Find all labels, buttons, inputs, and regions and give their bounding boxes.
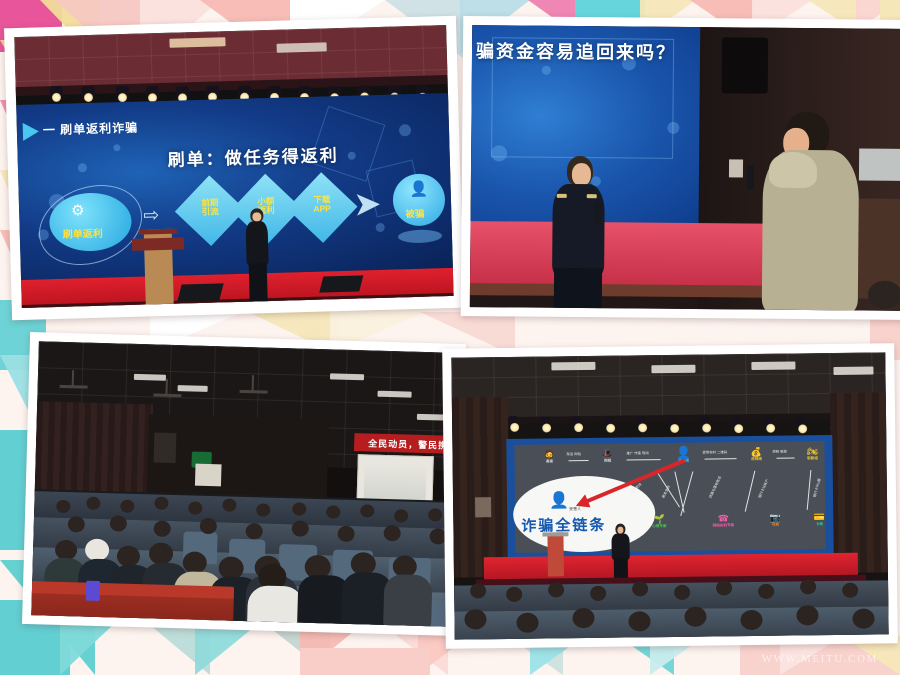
victim-label: 被骗 xyxy=(405,206,424,221)
person-icon: 👤 xyxy=(409,180,428,199)
legs xyxy=(249,263,268,304)
stage-lamp xyxy=(508,416,518,428)
stage-lamp xyxy=(668,417,678,429)
chain-node-label: 心理专家 xyxy=(639,524,679,529)
equipment-box xyxy=(195,464,222,487)
audience-head xyxy=(506,587,522,602)
gear-icon: ⚙ xyxy=(71,201,85,219)
curtain xyxy=(35,401,154,496)
bg-shape xyxy=(300,648,430,675)
chain-node-withdrawal: 🏍 取款组 xyxy=(794,447,830,461)
torso xyxy=(611,533,629,559)
speaker-person xyxy=(241,208,274,305)
ceiling-light xyxy=(751,361,795,370)
chain-node-label: 取款组 xyxy=(795,456,831,461)
legs xyxy=(614,558,628,578)
photo-top-left[interactable]: 一 刷单返利诈骗 刷单：做任务得返利 ⚙ 刷单返利 ⇨ 前期 引流 小额 返利 xyxy=(4,16,464,321)
audience-head xyxy=(674,585,690,600)
microphone xyxy=(595,202,601,224)
photo-bottom-right-image: 👤 受害人 诈骗全链条 🧔 黑客 🎩 网程 👤 话务组 xyxy=(451,352,888,639)
chain-node-number-dealer: 📷 号商 xyxy=(757,513,793,527)
slide-headline: 骗资金容易追回来吗？ xyxy=(476,37,676,65)
audience-head xyxy=(800,579,816,594)
rank-insignia xyxy=(587,194,597,198)
side-curtain xyxy=(830,392,888,573)
arrow-right-icon: ⇨ xyxy=(143,204,160,227)
wall-switch xyxy=(729,159,743,177)
podium-top xyxy=(139,229,177,235)
ceiling-light xyxy=(178,385,208,392)
big-arrow-icon: ➤ xyxy=(353,187,382,222)
collage-canvas: 一 刷单返利诈骗 刷单：做任务得返利 ⚙ 刷单返利 ⇨ 前期 引流 小额 返利 xyxy=(0,0,900,675)
led-screen: 一 刷单返利诈骗 刷单：做任务得返利 ⚙ 刷单返利 ⇨ 前期 引流 小额 返利 xyxy=(16,93,453,280)
speaker-box xyxy=(722,37,768,93)
ceiling-light xyxy=(330,373,364,380)
slide-corner-arrow-icon xyxy=(23,122,39,140)
ceiling-light xyxy=(833,367,873,375)
stage-lamp xyxy=(146,86,159,101)
step-label: 下载 APP xyxy=(300,195,344,214)
chain-node-laundering: 💰 洗钱组 xyxy=(738,448,774,462)
chain-node-label: 网程 xyxy=(591,459,625,464)
stage-monitor xyxy=(319,275,363,292)
audience-head xyxy=(470,583,486,598)
student-person xyxy=(762,112,862,311)
red-banner: 全民动员，警民携手， xyxy=(354,433,457,455)
stage-lamp xyxy=(796,417,806,429)
audience-head xyxy=(590,586,606,601)
ceiling xyxy=(451,352,886,421)
ceiling-light xyxy=(277,42,327,52)
officer-person xyxy=(546,156,611,309)
purple-cloth xyxy=(86,581,101,601)
photo-top-left-image: 一 刷单返利诈骗 刷单：做任务得返利 ⚙ 刷单返利 ⇨ 前期 引流 小额 返利 xyxy=(14,25,453,308)
stage-lamp xyxy=(50,86,63,101)
ceiling-light xyxy=(169,37,225,48)
chain-node-switchboard: ☎ 网络总机专商 xyxy=(697,514,749,529)
ceiling-light xyxy=(651,365,695,374)
watermark: WWW.MEITU.COM xyxy=(762,653,878,665)
stage-lamp xyxy=(604,417,614,429)
chain-node-seo: 🎩 网程 xyxy=(590,450,624,464)
chain-node-label: 洗钱组 xyxy=(739,457,775,462)
podium-top xyxy=(542,532,568,536)
photo-bottom-right[interactable]: 👤 受害人 诈骗全链条 🧔 黑客 🎩 网程 👤 话务组 xyxy=(442,343,898,648)
microphone xyxy=(264,228,267,240)
stage-lamp xyxy=(700,417,710,429)
microphone xyxy=(747,166,754,190)
chain-node-hacker: 🧔 黑客 xyxy=(532,450,566,464)
chain-node-label: 卡商 xyxy=(801,522,833,527)
chain-connector-label: 转移 赃款 xyxy=(772,449,787,454)
pedestal xyxy=(398,229,442,243)
wall-panel xyxy=(475,497,491,517)
photo-bottom-left-image: 全民动员，警民携手， xyxy=(31,341,456,627)
chain-node-label: 号商 xyxy=(757,522,793,527)
podium xyxy=(547,532,564,576)
step-label: 前期 引流 xyxy=(188,198,232,217)
chain-node-card-dealer: 💳 卡商 xyxy=(801,513,834,527)
audience-head xyxy=(842,583,858,598)
start-node-label: 刷单返利 xyxy=(63,225,103,241)
audience-body xyxy=(383,574,432,627)
stage-lamp xyxy=(82,86,95,101)
slide-section-label: 一 刷单返利诈骗 xyxy=(43,119,139,139)
chain-node-label: 网络总机专商 xyxy=(697,523,749,529)
chain-connector-label: 架设 网站 xyxy=(566,451,581,456)
face xyxy=(572,163,591,186)
audience-head xyxy=(868,281,900,309)
audience-head xyxy=(758,584,774,599)
audience-head xyxy=(548,582,564,597)
chain-node-label: 黑客 xyxy=(533,459,567,464)
stage-lamp xyxy=(636,416,646,428)
audience-head xyxy=(716,580,732,595)
presenter-person xyxy=(609,523,632,577)
stage-lamp xyxy=(732,417,742,429)
chain-node-psychology: 🌱 心理专家 xyxy=(639,515,679,529)
stage-lamp xyxy=(572,416,582,428)
hood xyxy=(769,152,817,188)
ceiling-light xyxy=(134,374,166,381)
ceiling-light xyxy=(551,362,595,371)
face xyxy=(252,212,261,221)
stage-lamp xyxy=(540,416,550,428)
ceiling-light xyxy=(377,391,411,398)
chain-connector xyxy=(777,457,795,459)
stage-lamp xyxy=(764,417,774,429)
audience-body-white-jacket xyxy=(247,585,305,627)
side-curtain xyxy=(452,397,510,578)
chain-connector xyxy=(569,460,589,462)
chain-connector-label: 推广 作案 导码 xyxy=(626,450,648,455)
chain-connector-label: 提供农村 二维码 xyxy=(702,449,727,454)
wall-panel xyxy=(154,432,177,463)
legs xyxy=(554,268,602,308)
photo-top-right-image: 骗资金容易追回来吗？ xyxy=(470,25,900,311)
equipment-rack xyxy=(859,148,900,180)
photo-bottom-left[interactable]: 全民动员，警民携手， xyxy=(22,332,466,636)
slide-headline: 刷单：做任务得返利 xyxy=(167,141,339,171)
podium-shelf xyxy=(132,237,184,250)
audience-head xyxy=(632,581,648,596)
photo-top-right[interactable]: 骗资金容易追回来吗？ xyxy=(461,16,900,320)
rank-insignia xyxy=(557,194,567,198)
stage-monitor xyxy=(177,283,223,301)
victim-icon: 👤 xyxy=(549,490,569,510)
